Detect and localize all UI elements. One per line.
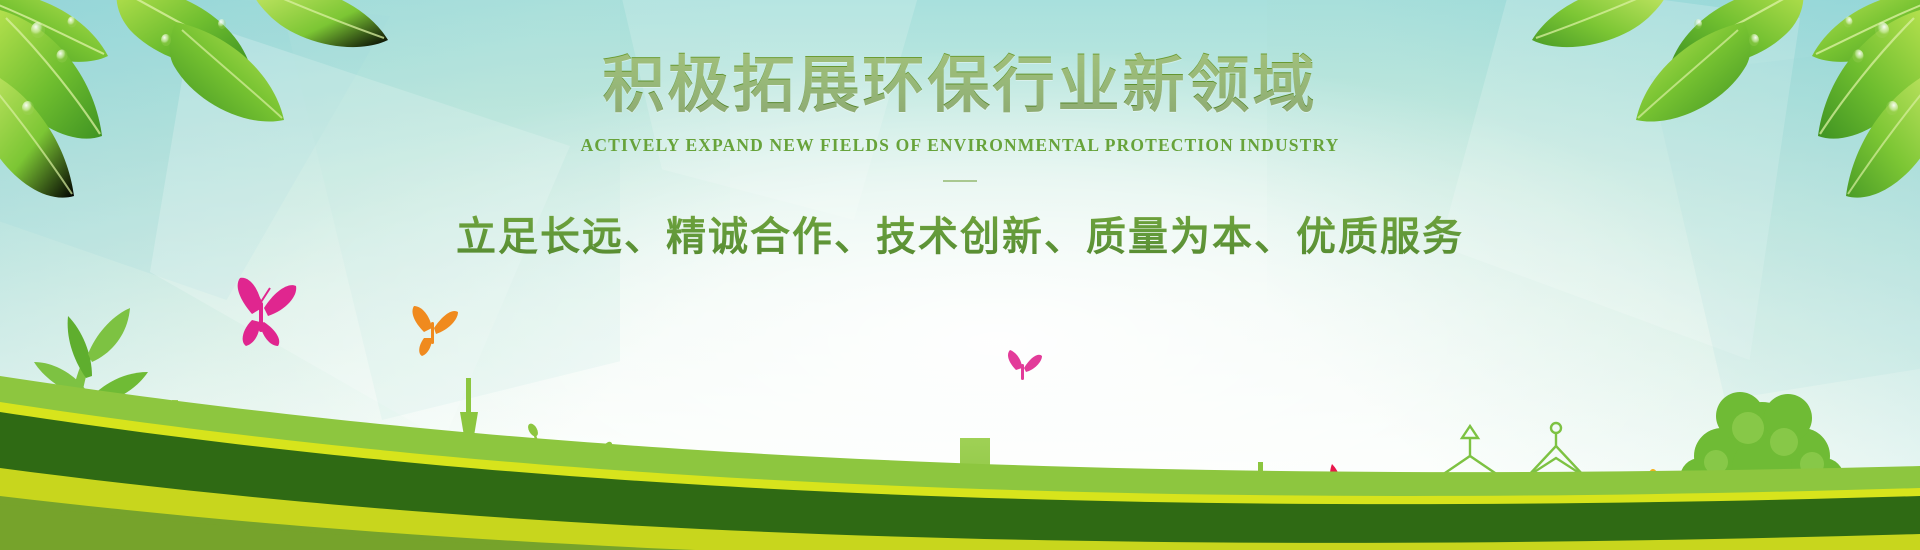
wave-bands (0, 290, 1920, 550)
page-title: 积极拓展环保行业新领域 (0, 52, 1920, 121)
headline-block: 积极拓展环保行业新领域 ACTIVELY EXPAND NEW FIELDS O… (0, 52, 1920, 262)
tagline: 立足长远、精诚合作、技术创新、质量为本、优质服务 (0, 204, 1920, 262)
eco-banner: 积极拓展环保行业新领域 ACTIVELY EXPAND NEW FIELDS O… (0, 0, 1920, 550)
subtitle-english: ACTIVELY EXPAND NEW FIELDS OF ENVIRONMEN… (0, 135, 1920, 156)
divider (943, 180, 977, 182)
